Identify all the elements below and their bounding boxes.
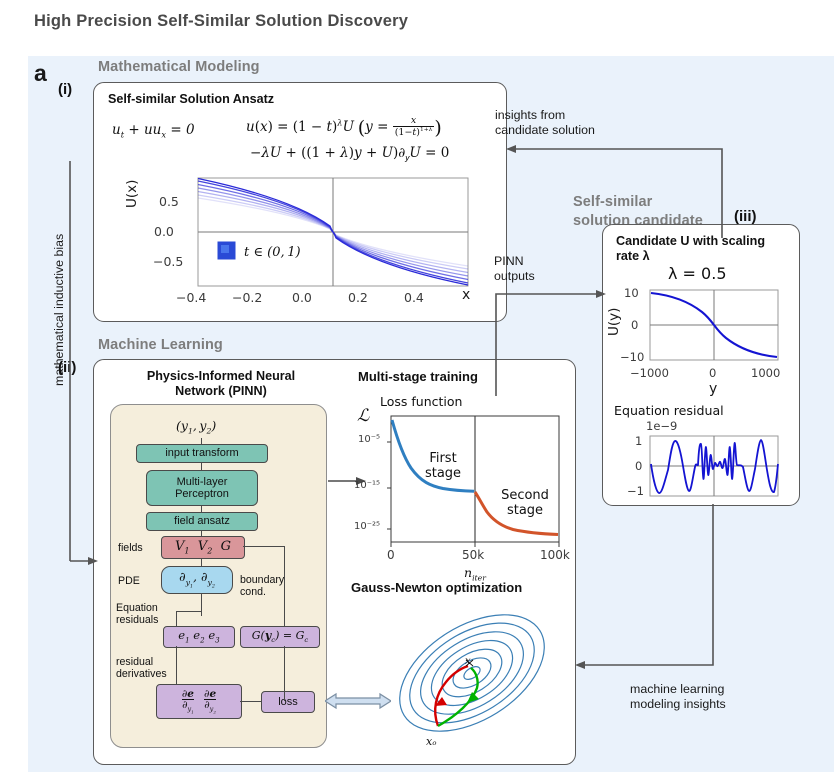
stage2-l1: Second	[490, 488, 560, 503]
node-residuals: e1 e2 e3	[163, 626, 235, 648]
node-mlp: Multi-layer Perceptron	[146, 470, 258, 506]
label-resderiv-l2: derivatives	[116, 668, 167, 680]
loss-ytick-0: 10⁻⁵	[358, 434, 380, 445]
section-header-modeling: Mathematical Modeling	[98, 59, 260, 76]
ansatz-similarity: u(x) = (1 − t)λU (y = x (1−t)1+λ )	[246, 116, 442, 139]
node-pde-operator: ∂y1, ∂y2	[161, 566, 233, 594]
ansatz-ylabel: U(x)	[124, 180, 140, 208]
node-boundary-eq: G(yc) = Gc	[240, 626, 320, 648]
loss-ylabel: ℒ	[357, 406, 369, 426]
uy-xtick-1: 0	[709, 366, 716, 380]
candidate-u-plot	[644, 288, 789, 370]
ansatz-xtick-2: 0.0	[292, 290, 312, 305]
loss-xtick-1: 50k	[462, 548, 484, 562]
stage1-l1: First	[414, 451, 472, 466]
uy-ytick-1: 0	[631, 318, 638, 332]
node-input-transform: input transform	[136, 444, 268, 463]
label-eqres-l1: Equation	[116, 602, 158, 614]
ansatz-xtick-4: 0.4	[404, 290, 424, 305]
node-mlp-l2: Perceptron	[175, 488, 229, 500]
label-boundary-l1: boundary	[240, 574, 284, 586]
flow-insights-l2: candidate solution	[495, 123, 595, 139]
wire-boundary-vert	[284, 546, 285, 626]
label-resderiv-l1: residual	[116, 656, 153, 668]
arrow-ml-insights	[573, 504, 719, 672]
node-fields: V1 V2 G	[161, 536, 245, 559]
ansatz-plot	[180, 176, 480, 304]
loss-plot-title: Loss function	[380, 394, 462, 409]
section-header-ml: Machine Learning	[98, 337, 223, 354]
ansatz-pde: ut + uux = 0	[112, 122, 195, 140]
pinn-title-l2: Network (PINN)	[121, 384, 321, 399]
stage1-label: First stage	[414, 451, 472, 481]
residual-ytick-2: −1	[627, 484, 644, 498]
ansatz-xtick-1: −0.2	[232, 290, 262, 305]
optimization-header: Gauss-Newton optimization	[351, 580, 522, 596]
residual-title: Equation residual	[614, 403, 724, 418]
wire-deriv-to-loss	[240, 701, 262, 702]
arrow-insights	[506, 142, 728, 238]
node-field-ansatz: field ansatz	[146, 512, 258, 531]
optimization-plot: x	[380, 598, 565, 748]
ansatz-ytick-neg05: −0.5	[153, 254, 183, 269]
figure-title: High Precision Self-Similar Solution Dis…	[34, 12, 408, 31]
arrow-pinn-outputs	[490, 286, 606, 396]
wire-boundary-to-loss	[284, 646, 285, 701]
ansatz-ytick-0: 0.0	[154, 224, 174, 239]
uy-xlabel: y	[709, 381, 717, 397]
arrow-inductive-bias	[64, 161, 98, 565]
flow-pinn-outputs-l1: PINN	[494, 254, 524, 270]
ansatz-xtick-0: −0.4	[176, 290, 206, 305]
ansatz-title: Self-similar Solution Ansatz	[108, 92, 274, 107]
roman-i: (i)	[58, 81, 72, 98]
panel-a: a Mathematical Modeling (i) Machine Lear…	[28, 56, 834, 772]
ansatz-xlabel: x	[462, 287, 470, 303]
residual-plot	[644, 434, 789, 504]
training-header: Multi-stage training	[358, 369, 478, 385]
uy-ylabel: U(y)	[606, 308, 622, 336]
ansatz-xtick-3: 0.2	[348, 290, 368, 305]
loss-ytick-1: 10⁻¹⁵	[354, 480, 380, 491]
label-fields: fields	[118, 542, 143, 554]
residual-ytick-0: 1	[635, 434, 642, 448]
label-eqres-l2: residuals	[116, 614, 158, 626]
stage1-l2: stage	[414, 466, 472, 481]
stage2-label: Second stage	[490, 488, 560, 518]
ansatz-ytick-05: 0.5	[159, 194, 179, 209]
roman-iii: (iii)	[734, 208, 757, 225]
uy-ytick-0: 10	[624, 286, 639, 300]
loss-ytick-2: 10⁻²⁵	[354, 521, 380, 532]
loss-xtick-0: 0	[387, 548, 395, 562]
wire-fields-to-boundary	[243, 546, 285, 547]
wire-res-to-deriv	[176, 646, 177, 684]
flow-pinn-outputs-l2: outputs	[494, 269, 535, 285]
lambda-value: λ = 0.5	[668, 264, 727, 283]
node-residual-derivatives: ∂e ∂y1 ∂e ∂y2	[156, 684, 242, 719]
wire-residual-left	[176, 611, 177, 626]
wire-residual-join	[176, 611, 202, 612]
panel-letter: a	[34, 60, 47, 87]
pinn-title-l1: Physics-Informed Neural	[121, 369, 321, 384]
label-pde: PDE	[118, 575, 140, 587]
figure-root: High Precision Self-Similar Solution Dis…	[0, 0, 834, 772]
node-mlp-l1: Multi-layer	[175, 476, 229, 488]
residual-scale: 1e−9	[646, 419, 677, 433]
residual-ytick-1: 0	[635, 459, 642, 473]
ansatz-legend-label: t ∈ (0, 1)	[244, 245, 301, 260]
uy-ytick-2: −10	[620, 350, 644, 364]
label-boundary-l2: cond.	[240, 586, 266, 598]
uy-xtick-2: 1000	[751, 366, 780, 380]
candidate-title-l2: rate λ	[616, 249, 650, 264]
optimization-start-label: xₒ	[426, 735, 436, 748]
flow-ml-insights-l2: modeling insights	[630, 697, 726, 713]
uy-xtick-0: −1000	[630, 366, 669, 380]
flow-insights-l1: insights from	[495, 108, 565, 124]
node-loss: loss	[261, 691, 315, 713]
ansatz-ode: −λU + ((1 + λ)y + U)∂yU = 0	[250, 145, 449, 163]
loss-xtick-2: 100k	[540, 548, 570, 562]
flow-ml-insights-l1: machine learning	[630, 682, 724, 698]
pinn-input-label: (y1, y2)	[176, 418, 216, 436]
stage2-l2: stage	[490, 503, 560, 518]
